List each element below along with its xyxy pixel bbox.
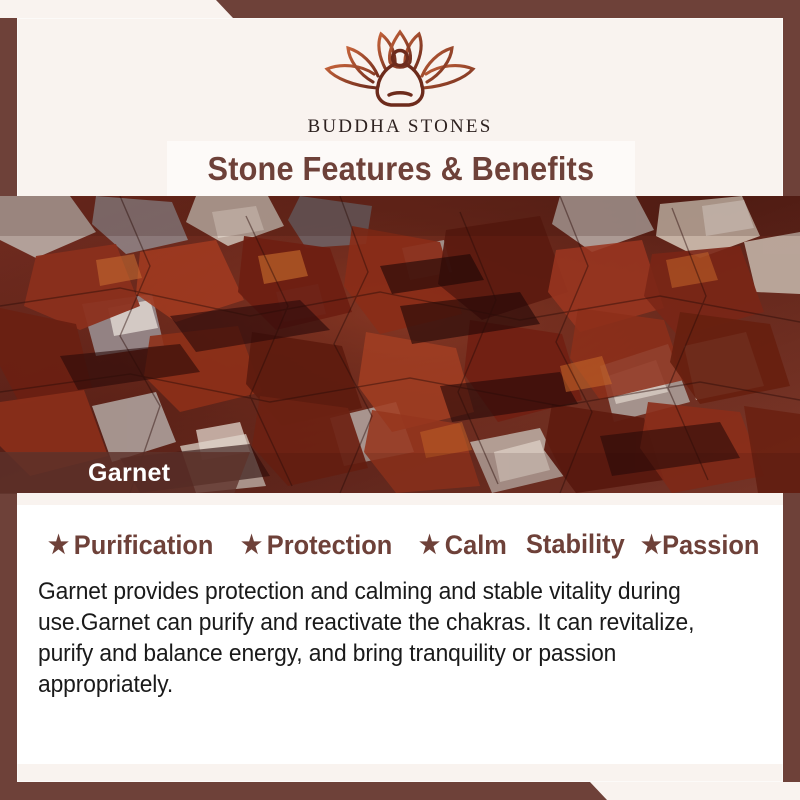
lotus-meditation-figure-icon	[315, 26, 485, 112]
photo-render	[0, 196, 800, 493]
frame-top-border	[0, 0, 800, 18]
benefit-label: Protection	[267, 530, 393, 561]
star-icon: ★	[641, 533, 662, 558]
benefits-row: ★ Purification ★ Protection ★ Calm Stabi…	[48, 529, 758, 561]
stone-name-banner: Garnet	[0, 452, 250, 494]
benefit-label: Stability	[526, 529, 625, 560]
benefit-stability: Stability	[526, 529, 625, 560]
benefit-label: Purification	[74, 530, 214, 561]
star-icon: ★	[419, 533, 440, 558]
stone-features-infographic-card: BUDDHA STONES Stone Features & Benefits	[0, 0, 800, 800]
stone-description: Garnet provides protection and calming a…	[38, 576, 718, 700]
frame-bottom-border	[0, 782, 800, 800]
brand-logo: BUDDHA STONES	[0, 26, 800, 138]
star-icon: ★	[48, 533, 69, 558]
garnet-crystal-cluster-photo	[0, 196, 800, 493]
benefit-calm: ★ Calm	[419, 530, 507, 561]
benefit-label: Passion	[662, 530, 759, 561]
benefit-purification: ★ Purification	[48, 530, 213, 561]
benefit-protection: ★ Protection	[241, 530, 392, 561]
benefit-passion: ★ Passion	[641, 530, 759, 561]
brand-name: BUDDHA STONES	[307, 116, 492, 138]
benefit-label: Calm	[445, 530, 507, 561]
panel-top-strip	[17, 493, 783, 505]
title-banner: Stone Features & Benefits	[167, 141, 635, 197]
star-icon: ★	[241, 533, 262, 558]
page-title: Stone Features & Benefits	[208, 150, 595, 188]
stone-name: Garnet	[88, 459, 170, 488]
